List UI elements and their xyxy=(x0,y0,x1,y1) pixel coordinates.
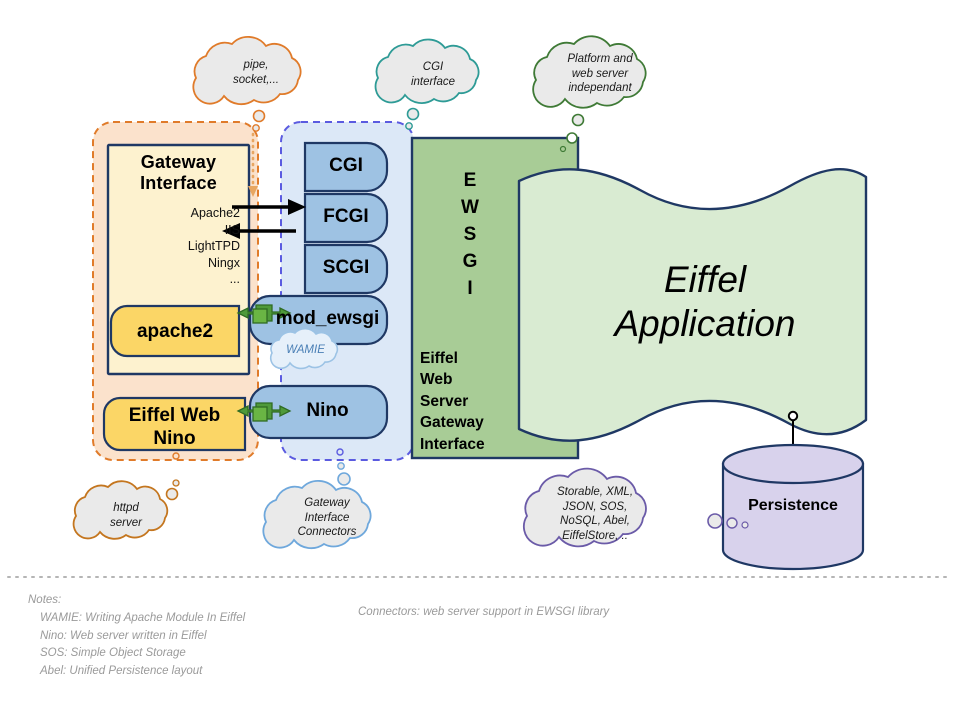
persistence-link-dot-top xyxy=(789,412,797,420)
gateway-interface-server-list: Apache2 IIS LightTPD Ningx ... xyxy=(108,205,240,288)
diagram-canvas: pipe, socket,... CGI interface Platform … xyxy=(0,0,960,720)
eiffel-application-label: Eiffel Application xyxy=(570,258,840,347)
cloud-label-httpd-server: httpd server xyxy=(76,501,176,530)
cloud-label-gateway-connectors: Gateway Interface Connectors xyxy=(267,496,387,540)
notes-block-right: Connectors: web server support in EWSGI … xyxy=(358,604,778,622)
label-line: Eiffel Web xyxy=(104,404,245,427)
cloud-line: EiffelStore, .. xyxy=(528,529,662,544)
cloud-line: Gateway xyxy=(267,496,387,511)
persistence-label: Persistence xyxy=(723,497,863,515)
connector-label-fcgi[interactable]: FCGI xyxy=(305,206,387,228)
app-line: Eiffel xyxy=(570,258,840,302)
ewsgi-expansion: Eiffel Web Server Gateway Interface xyxy=(420,348,540,455)
ewsgi-acronym: E W S G I xyxy=(442,168,498,303)
cloud-line: Storable, XML, xyxy=(528,485,662,500)
note-line: Nino: Web server written in Eiffel xyxy=(40,628,448,646)
server-list-item: Apache2 xyxy=(108,205,240,222)
cloud-line: NoSQL, Abel, xyxy=(528,514,662,529)
server-list-item: Ningx xyxy=(108,255,240,272)
cloud-line: web server xyxy=(536,67,664,82)
cloud-line: Connectors xyxy=(267,525,387,540)
cloud-line: pipe, xyxy=(196,58,316,73)
note-line: Abel: Unified Persistence layout xyxy=(40,663,448,681)
cloud-line: httpd xyxy=(76,501,176,516)
cloud-line: server xyxy=(76,516,176,531)
server-list-item: IIS xyxy=(108,222,240,239)
cloud-line: JSON, SOS, xyxy=(528,500,662,515)
cloud-label-platform-independant: Platform and web server independant xyxy=(536,52,664,96)
connector-label-cgi[interactable]: CGI xyxy=(305,155,387,177)
connector-label-nino[interactable]: Nino xyxy=(268,400,387,422)
cloud-line: Interface xyxy=(267,511,387,526)
cloud-label-persistence-formats: Storable, XML, JSON, SOS, NoSQL, Abel, E… xyxy=(528,485,662,544)
label-line: Nino xyxy=(104,427,245,450)
cloud-label-cgi-interface: CGI interface xyxy=(378,60,488,89)
note-line: Connectors: web server support in EWSGI … xyxy=(358,604,778,622)
cloud-label-wamie: WAMIE xyxy=(272,344,339,357)
ewsgi-anchor-dot xyxy=(567,133,577,143)
connector-label-scgi[interactable]: SCGI xyxy=(305,257,387,279)
cloud-label-pipe-socket: pipe, socket,... xyxy=(196,58,316,87)
gateway-interface-title: Gateway Interface xyxy=(108,152,249,193)
server-list-item: ... xyxy=(108,271,240,288)
cloud-line: Platform and xyxy=(536,52,664,67)
cloud-line: CGI xyxy=(378,60,488,75)
ewsgi-letter: I xyxy=(442,276,498,303)
expansion-line: Interface xyxy=(420,434,540,455)
ewsgi-letter: G xyxy=(442,249,498,276)
cloud-line: independant xyxy=(536,81,664,96)
expansion-line: Web xyxy=(420,369,540,390)
apache2-label[interactable]: apache2 xyxy=(111,321,239,343)
expansion-line: Eiffel xyxy=(420,348,540,369)
cloud-line: socket,... xyxy=(196,73,316,88)
title-line: Gateway xyxy=(108,152,249,173)
expansion-line: Server xyxy=(420,391,540,412)
note-line: SOS: Simple Object Storage xyxy=(40,645,448,663)
title-line: Interface xyxy=(108,173,249,194)
persistence-cylinder-top xyxy=(723,445,863,483)
expansion-line: Gateway xyxy=(420,412,540,433)
connector-label-mod-ewsgi[interactable]: mod_ewsgi xyxy=(268,308,387,330)
ewsgi-letter: S xyxy=(442,222,498,249)
app-line: Application xyxy=(570,302,840,346)
cloud-line: interface xyxy=(378,75,488,90)
ewsgi-letter: E xyxy=(442,168,498,195)
server-list-item: LightTPD xyxy=(108,238,240,255)
ewsgi-letter: W xyxy=(442,195,498,222)
eiffel-web-nino-label[interactable]: Eiffel Web Nino xyxy=(104,404,245,450)
